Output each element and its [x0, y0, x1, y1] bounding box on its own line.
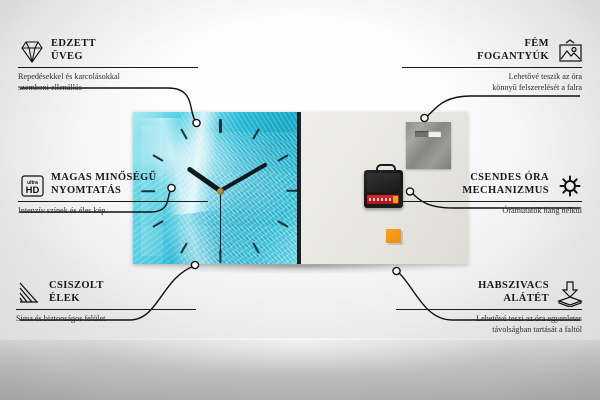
- battery-label: [369, 198, 393, 201]
- feature-divider: [16, 309, 196, 310]
- clock-tick: [253, 129, 261, 140]
- feature-desc-line2: könnyű felszerelését a falra: [402, 83, 582, 94]
- feature-desc-line1: Lehetővé teszik az óra: [402, 72, 582, 83]
- feature-divider: [396, 309, 582, 310]
- foam-pad-arrow-icon: [556, 281, 582, 305]
- feature-desc-line1: Óramutatók hang nélkül: [402, 206, 582, 217]
- feature-high-quality-print[interactable]: ultra HD MAGAS MINŐSÉGŰ NYOMTATÁS Intenz…: [18, 172, 208, 217]
- clock-tick: [152, 154, 163, 162]
- feature-desc-line1: Sima és biztonságos felület: [16, 314, 196, 325]
- quartz-clock-mechanism: [364, 170, 403, 208]
- clock-tick: [219, 119, 221, 133]
- clock-center-pivot: [217, 188, 224, 195]
- feature-desc-line2: távolságban tartását a faltól: [396, 325, 582, 336]
- clock-tick: [253, 242, 261, 253]
- feature-silent-mechanism[interactable]: CSENDES ÓRA MECHANIZMUS Óramutatók hang …: [402, 172, 582, 217]
- clock-tick: [152, 220, 163, 228]
- ultra-hd-icon: ultra HD: [18, 173, 44, 197]
- mechanism-body: [367, 173, 400, 192]
- foam-spacer-pad: [386, 229, 401, 243]
- feature-header: HABSZIVACS ALÁTÉT: [396, 280, 582, 305]
- feature-title: FÉM FOGANTYÚK: [477, 38, 549, 63]
- feature-title: CSENDES ÓRA MECHANIZMUS: [462, 172, 549, 197]
- clock-tick: [277, 154, 288, 162]
- hanger-slot: [415, 131, 441, 137]
- feature-divider: [18, 201, 208, 202]
- svg-text:HD: HD: [26, 185, 40, 196]
- feature-tempered-glass[interactable]: EDZETT ÜVEG Repedésekkel és karcolásokka…: [18, 38, 198, 93]
- clock-second-hand: [220, 191, 221, 253]
- feature-header: EDZETT ÜVEG: [18, 38, 198, 63]
- feature-divider: [402, 201, 582, 202]
- feature-title: EDZETT ÜVEG: [51, 38, 96, 63]
- feature-header: CSENDES ÓRA MECHANIZMUS: [402, 172, 582, 197]
- feature-desc-line1: Intenzív színek és éles kép: [18, 206, 208, 217]
- feature-header: FÉM FOGANTYÚK: [402, 38, 582, 63]
- clock-tick: [180, 242, 188, 253]
- feature-header: CSISZOLT ÉLEK: [16, 280, 196, 305]
- clock-tick: [277, 220, 288, 228]
- battery-terminal: [393, 196, 398, 203]
- metal-hanger-plate: [406, 122, 451, 169]
- feature-title: CSISZOLT ÉLEK: [49, 280, 104, 305]
- clock-minute-hand: [219, 162, 268, 192]
- feature-polished-edges[interactable]: CSISZOLT ÉLEK Sima és biztonságos felüle…: [16, 280, 196, 325]
- floor-sheen: [0, 338, 600, 400]
- product-infographic: EDZETT ÜVEG Repedésekkel és karcolásokka…: [0, 0, 600, 400]
- feature-desc-line1: Lehetővé teszi az óra egyenletes: [396, 314, 582, 325]
- feature-title: MAGAS MINŐSÉGŰ NYOMTATÁS: [51, 172, 157, 197]
- feature-divider: [18, 67, 198, 68]
- polished-edges-icon: [16, 281, 42, 305]
- diamond-icon: [18, 39, 44, 63]
- feature-title: HABSZIVACS ALÁTÉT: [478, 280, 549, 305]
- feature-header: ultra HD MAGAS MINŐSÉGŰ NYOMTATÁS: [18, 172, 208, 197]
- feature-desc-line2: szembeni ellenállás: [18, 83, 198, 94]
- clock-tick: [180, 129, 188, 140]
- picture-hanger-icon: [556, 39, 582, 63]
- feature-foam-spacer[interactable]: HABSZIVACS ALÁTÉT Lehetővé teszi az óra …: [396, 280, 582, 335]
- gear-icon: [556, 173, 582, 197]
- feature-metal-handles[interactable]: FÉM FOGANTYÚK Lehetővé teszik az óra kön…: [402, 38, 582, 93]
- battery: [367, 195, 399, 204]
- feature-desc-line1: Repedésekkel és karcolásokkal: [18, 72, 198, 83]
- feature-divider: [402, 67, 582, 68]
